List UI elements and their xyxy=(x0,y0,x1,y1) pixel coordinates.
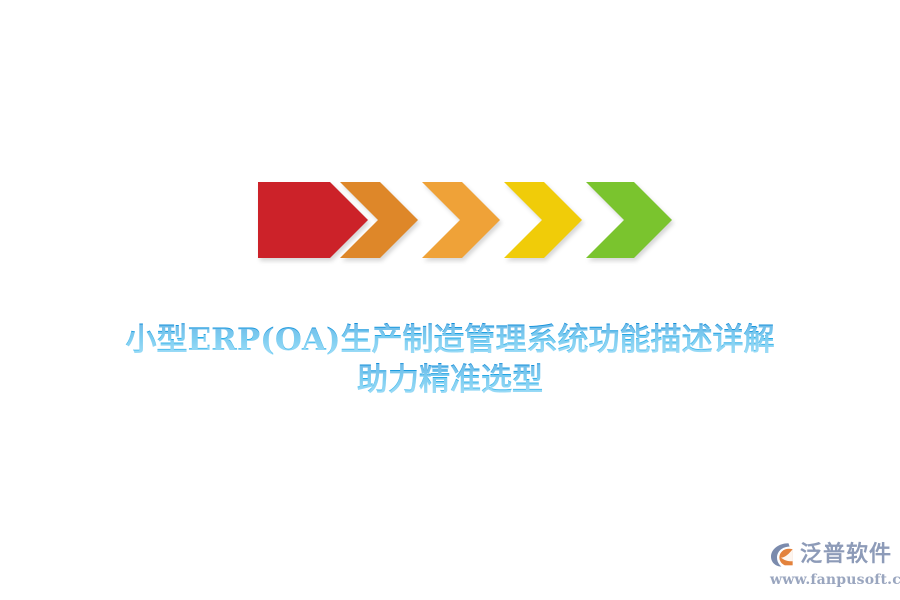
brand-url: www.fanpusoft.com xyxy=(770,572,896,588)
slide-canvas: 小型ERP(OA)生产制造管理系统功能描述详解 助力精准选型 泛普软件 www.… xyxy=(0,0,900,600)
brand-logo: 泛普软件 www.fanpusoft.com xyxy=(768,539,896,589)
title-line-1: 小型ERP(OA)生产制造管理系统功能描述详解 xyxy=(0,320,900,360)
brand-logo-row: 泛普软件 xyxy=(768,539,896,571)
chevron-segment-1 xyxy=(258,182,368,258)
fanpu-swoosh-logo-icon xyxy=(768,540,798,570)
title-line-2: 助力精准选型 xyxy=(0,360,900,400)
chevron-segment-1-shape xyxy=(258,182,368,258)
five-step-chevron-graphic xyxy=(258,182,672,258)
page-title: 小型ERP(OA)生产制造管理系统功能描述详解 助力精准选型 xyxy=(0,320,900,400)
brand-name: 泛普软件 xyxy=(800,542,892,568)
